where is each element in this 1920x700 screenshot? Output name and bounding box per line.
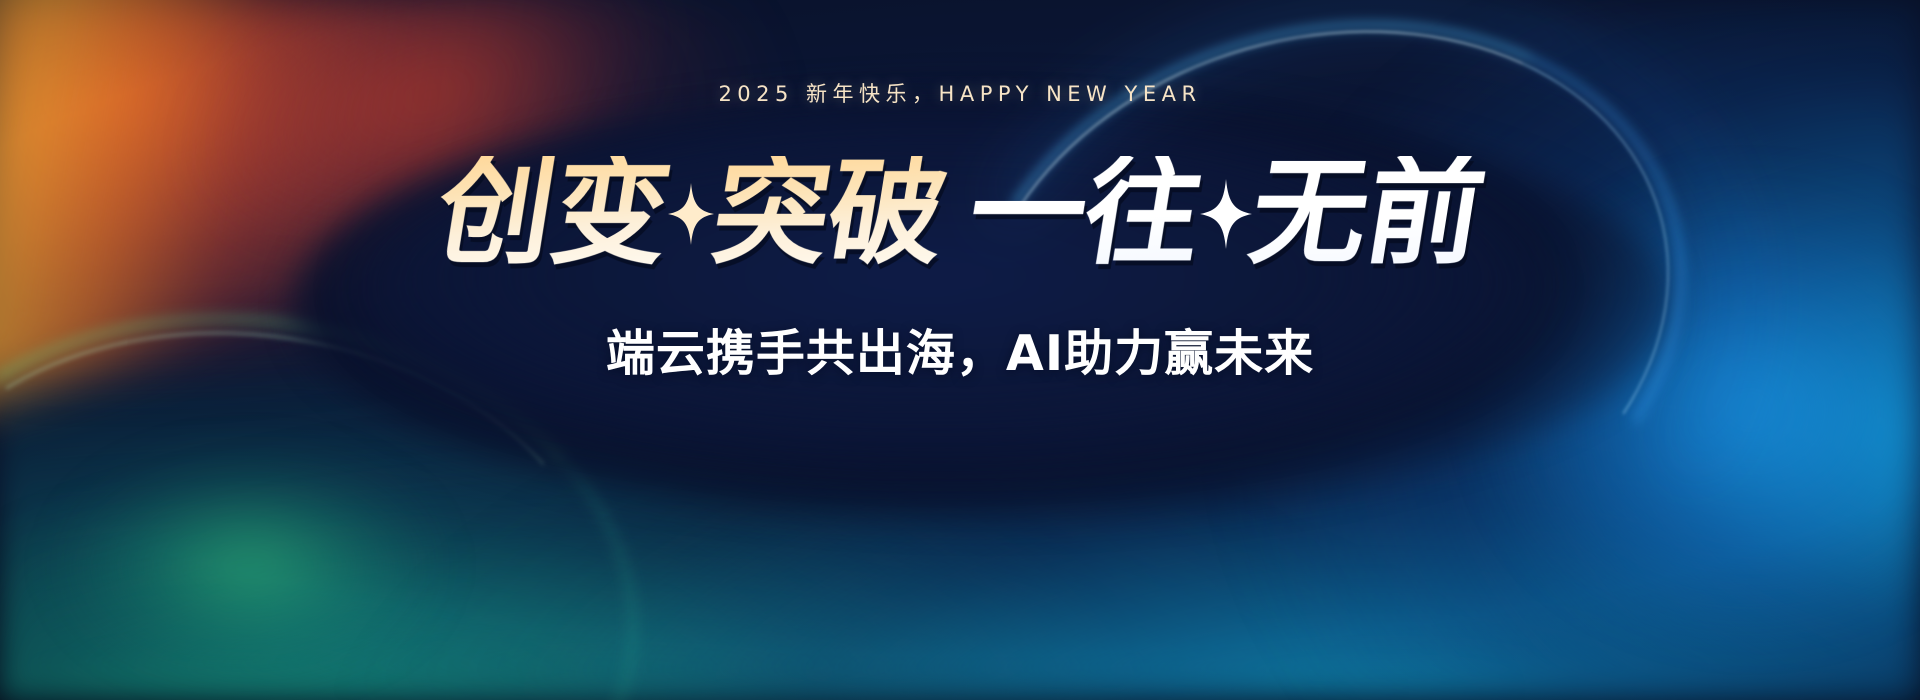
banner-eyebrow-text: 2025 新年快乐，HAPPY NEW YEAR [718, 78, 1201, 108]
headline-part-wuqian: 无前 [1243, 156, 1491, 272]
headline-part-chuangbian: 创变 [429, 156, 677, 272]
banner-headline: 创变 突破 一往无前 [429, 156, 1491, 272]
headline-part-yiwangwuqian: 一往 [961, 156, 1209, 272]
banner-content: 2025 新年快乐，HAPPY NEW YEAR 创变 突破 一往无前 端云携手… [0, 0, 1920, 700]
banner-subtitle-text: 端云携手共出海，AI助力赢未来 [606, 314, 1314, 385]
sparkle-icon-gold-left [668, 183, 714, 245]
sparkle-icon-white-right [1200, 179, 1252, 249]
new-year-promo-banner: 2025 新年快乐，HAPPY NEW YEAR 创变 突破 一往无前 端云携手… [0, 0, 1920, 700]
headline-part-tupo: 突破 [705, 156, 953, 272]
